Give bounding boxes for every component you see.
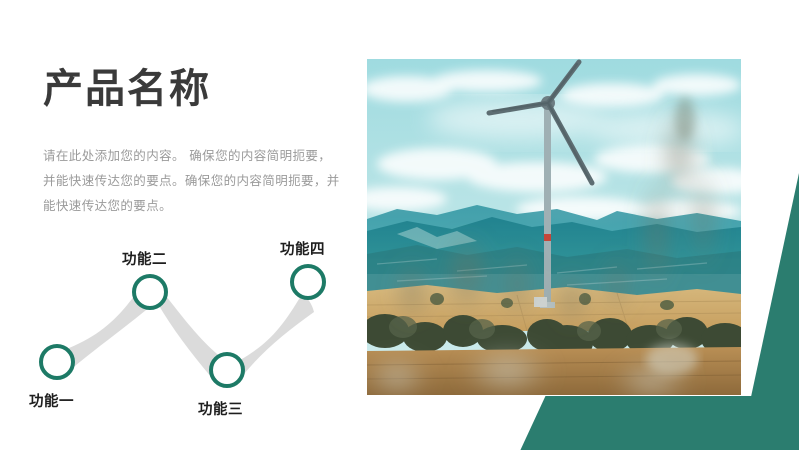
photo-artwork bbox=[367, 59, 741, 395]
wind-turbine-landscape-photo bbox=[367, 59, 741, 395]
page-title: 产品名称 bbox=[43, 64, 211, 114]
feature-zigzag-diagram: 功能一 功能二 功能三 功能四 bbox=[20, 232, 360, 424]
feature-node-2-label: 功能二 bbox=[122, 248, 167, 269]
slide-canvas: 产品名称 请在此处添加您的内容。 确保您的内容简明扼要，并能快速传达您的要点。确… bbox=[0, 0, 799, 450]
feature-node-4-label: 功能四 bbox=[280, 238, 325, 259]
feature-node-2-circle[interactable] bbox=[132, 274, 168, 310]
feature-node-3-circle[interactable] bbox=[209, 352, 245, 388]
body-paragraph: 请在此处添加您的内容。 确保您的内容简明扼要，并能快速传达您的要点。确保您的内容… bbox=[43, 143, 343, 218]
bottom-green-shape bbox=[486, 396, 799, 450]
feature-node-3-label: 功能三 bbox=[198, 398, 243, 419]
feature-node-4-circle[interactable] bbox=[290, 264, 326, 300]
feature-node-1-label: 功能一 bbox=[29, 390, 74, 411]
feature-node-1-circle[interactable] bbox=[39, 344, 75, 380]
